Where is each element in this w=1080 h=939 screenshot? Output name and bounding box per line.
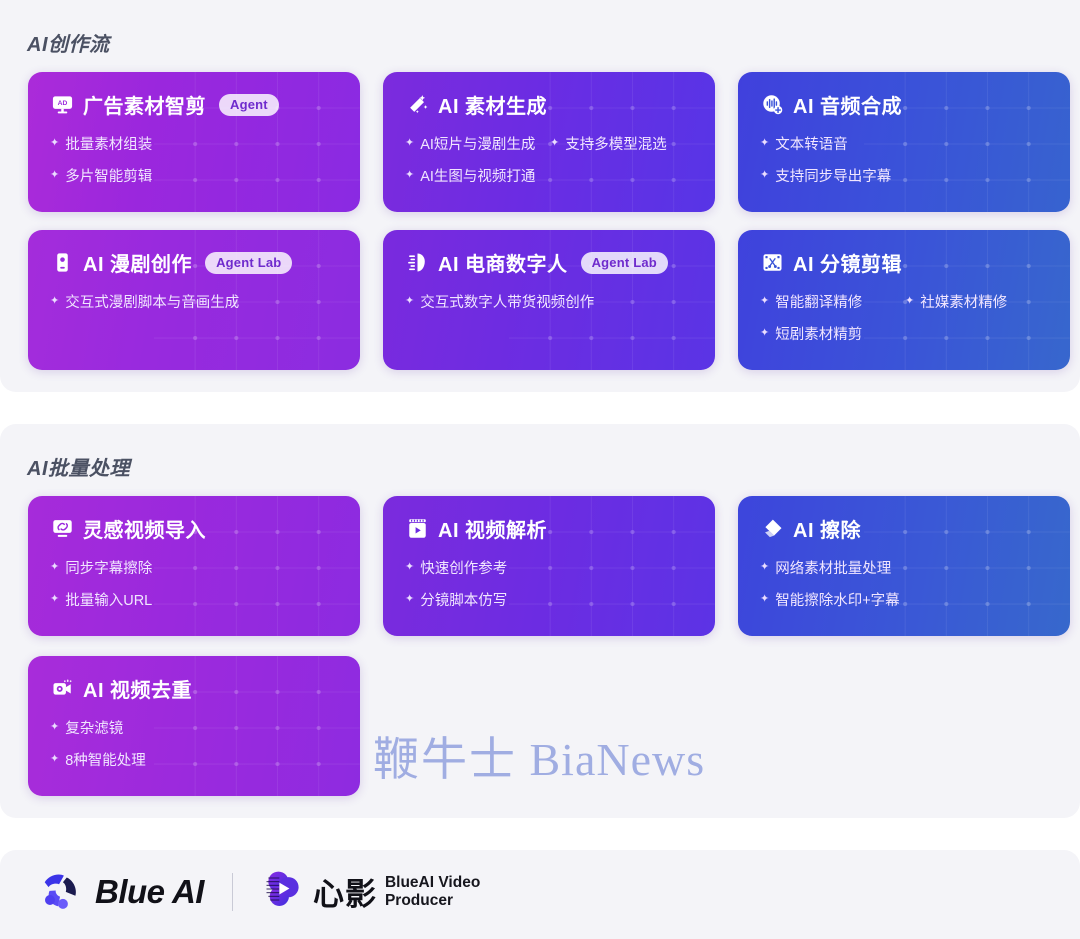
feature-label: 短剧素材精剪 — [775, 323, 862, 344]
feature-list: ✦ 智能翻译精修 ✦ 社媒素材精修 ✦ 短剧素材精剪 — [760, 291, 1050, 344]
card-ai-ecommerce-digital-human[interactable]: AI 电商数字人 Agent Lab ✦ 交互式数字人带货视频创作 — [383, 230, 715, 370]
blue-ai-wordmark: Blue AI — [95, 873, 204, 911]
ad-monitor-icon: AD — [50, 93, 74, 117]
brand-xinying: 心影 BlueAI Video Producer — [261, 867, 480, 916]
status-badge: Agent — [219, 94, 279, 116]
audio-wave-icon — [760, 93, 784, 117]
feature-label: 快速创作参考 — [420, 557, 507, 578]
card-ai-audio-synthesis[interactable]: AI 音频合成 ✦ 文本转语音 ✦ 支持同步导出字幕 — [738, 72, 1070, 212]
feature-label: 批量素材组装 — [65, 133, 152, 154]
feature-list: ✦ 交互式数字人带货视频创作 — [405, 291, 695, 312]
section-title-ai-creation-flow: AI创作流 — [27, 28, 110, 57]
feature-item: ✦ 8种智能处理 — [50, 749, 340, 770]
watermark-cn: 鞭牛士 — [373, 734, 517, 785]
card-title: AI 分镜剪辑 — [793, 248, 902, 277]
digital-human-icon — [405, 251, 429, 275]
feature-item: ✦ 支持同步导出字幕 — [760, 165, 1050, 186]
card-ai-material-generation[interactable]: AI 素材生成 ✦ AI短片与漫剧生成 ✦ 支持多模型混选 ✦ AI生图与视频打… — [383, 72, 715, 212]
section-title-ai-batch-processing: AI批量处理 — [27, 452, 130, 481]
feature-item: ✦ 分镜脚本仿写 — [405, 589, 695, 610]
card-header: AI 擦除 — [760, 514, 1050, 543]
feature-item: ✦ 多片智能剪辑 — [50, 165, 340, 186]
card-header: AI 分镜剪辑 — [760, 248, 1050, 277]
link-import-icon — [50, 517, 74, 541]
card-header: AD 广告素材智剪 Agent — [50, 90, 340, 119]
card-ai-storyboard-editing[interactable]: AI 分镜剪辑 ✦ 智能翻译精修 ✦ 社媒素材精修 ✦ 短剧素材精剪 — [738, 230, 1070, 370]
sparkle-bullet-icon: ✦ — [50, 170, 59, 181]
sparkle-bullet-icon: ✦ — [760, 562, 769, 573]
feature-label: 智能擦除水印+字幕 — [775, 589, 899, 610]
card-title: AI 电商数字人 — [438, 248, 568, 277]
card-title: AI 音频合成 — [793, 90, 902, 119]
card-ai-comic-drama-creation[interactable]: AI 漫剧创作 Agent Lab ✦ 交互式漫剧脚本与音画生成 — [28, 230, 360, 370]
feature-item: ✦ AI短片与漫剧生成 — [405, 133, 550, 154]
feature-label: 同步字幕擦除 — [65, 557, 152, 578]
feature-item: ✦ 短剧素材精剪 — [760, 323, 1050, 344]
feature-label: AI短片与漫剧生成 — [420, 133, 535, 154]
feature-item: ✦ 网络素材批量处理 — [760, 557, 1050, 578]
card-ad-material-smart-edit[interactable]: AD 广告素材智剪 Agent ✦ 批量素材组装 ✦ 多片智能剪辑 — [28, 72, 360, 212]
feature-list: ✦ AI短片与漫剧生成 ✦ 支持多模型混选 ✦ AI生图与视频打通 — [405, 133, 695, 186]
sparkle-bullet-icon: ✦ — [50, 722, 59, 733]
feature-label: 智能翻译精修 — [775, 291, 862, 312]
card-header: AI 视频解析 — [405, 514, 695, 543]
watermark-bianews: 鞭牛士 BiaNews — [373, 723, 705, 789]
card-header: AI 漫剧创作 Agent Lab — [50, 248, 340, 277]
card-ai-erase[interactable]: AI 擦除 ✦ 网络素材批量处理 ✦ 智能擦除水印+字幕 — [738, 496, 1070, 636]
card-title: AI 擦除 — [793, 514, 861, 543]
feature-item: ✦ 交互式漫剧脚本与音画生成 — [50, 291, 340, 312]
card-title: AI 漫剧创作 — [83, 248, 192, 277]
sparkle-bullet-icon: ✦ — [760, 170, 769, 181]
xinying-logo-icon — [261, 867, 305, 916]
feature-list: ✦ 快速创作参考 ✦ 分镜脚本仿写 — [405, 557, 695, 610]
feature-item: ✦ 复杂滤镜 — [50, 717, 340, 738]
sparkle-bullet-icon: ✦ — [905, 296, 914, 307]
sparkle-bullet-icon: ✦ — [760, 138, 769, 149]
sparkle-bullet-icon: ✦ — [405, 594, 414, 605]
feature-label: 交互式数字人带货视频创作 — [420, 291, 594, 312]
sparkle-bullet-icon: ✦ — [760, 328, 769, 339]
feature-item: ✦ 支持多模型混选 — [550, 133, 695, 154]
feature-item: ✦ AI生图与视频打通 — [405, 165, 695, 186]
footer-brand-row: Blue AI — [38, 866, 480, 917]
feature-label: 社媒素材精修 — [920, 291, 1007, 312]
card-header: AI 音频合成 — [760, 90, 1050, 119]
svg-text:AD: AD — [57, 100, 67, 107]
card-inspiration-video-import[interactable]: 灵感视频导入 ✦ 同步字幕擦除 ✦ 批量输入URL — [28, 496, 360, 636]
card-header: AI 视频去重 — [50, 674, 340, 703]
feature-label: 批量输入URL — [65, 589, 152, 610]
xinying-en-name: BlueAI Video Producer — [385, 874, 480, 910]
sparkle-bullet-icon: ✦ — [760, 594, 769, 605]
status-badge: Agent Lab — [581, 252, 668, 274]
feature-list: ✦ 同步字幕擦除 ✦ 批量输入URL — [50, 557, 340, 610]
feature-label: 交互式漫剧脚本与音画生成 — [65, 291, 239, 312]
promo-feature-page: AI创作流 AD — [0, 0, 1080, 939]
card-title: AI 视频去重 — [83, 674, 192, 703]
card-header: AI 素材生成 — [405, 90, 695, 119]
feature-list: ✦ 文本转语音 ✦ 支持同步导出字幕 — [760, 133, 1050, 186]
sparkle-bullet-icon: ✦ — [760, 296, 769, 307]
brand-divider — [232, 873, 233, 911]
magic-wand-icon — [405, 93, 429, 117]
brand-blue-ai: Blue AI — [38, 866, 204, 917]
feature-item: ✦ 智能擦除水印+字幕 — [760, 589, 1050, 610]
feature-list: ✦ 网络素材批量处理 ✦ 智能擦除水印+字幕 — [760, 557, 1050, 610]
feature-item: ✦ 同步字幕擦除 — [50, 557, 340, 578]
blue-ai-logo-icon — [38, 866, 84, 917]
feature-label: 文本转语音 — [775, 133, 848, 154]
sparkle-bullet-icon: ✦ — [50, 562, 59, 573]
feature-label: 复杂滤镜 — [65, 717, 123, 738]
feature-label: 网络素材批量处理 — [775, 557, 891, 578]
sparkle-bullet-icon: ✦ — [405, 296, 414, 307]
card-title: 灵感视频导入 — [83, 514, 206, 543]
xinying-cn-name: 心影 — [313, 869, 377, 914]
card-header: 灵感视频导入 — [50, 514, 340, 543]
sparkle-bullet-icon: ✦ — [550, 138, 559, 149]
feature-item: ✦ 快速创作参考 — [405, 557, 695, 578]
sparkle-bullet-icon: ✦ — [50, 754, 59, 765]
feature-label: 多片智能剪辑 — [65, 165, 152, 186]
feature-item: ✦ 批量输入URL — [50, 589, 340, 610]
feature-item: ✦ 社媒素材精修 — [905, 291, 1050, 312]
card-ai-video-analysis[interactable]: AI 视频解析 ✦ 快速创作参考 ✦ 分镜脚本仿写 — [383, 496, 715, 636]
sparkle-bullet-icon: ✦ — [405, 138, 414, 149]
feature-label: 支持同步导出字幕 — [775, 165, 891, 186]
feature-list: ✦ 复杂滤镜 ✦ 8种智能处理 — [50, 717, 340, 770]
card-header: AI 电商数字人 Agent Lab — [405, 248, 695, 277]
sparkle-bullet-icon: ✦ — [50, 594, 59, 605]
feature-list: ✦ 交互式漫剧脚本与音画生成 — [50, 291, 340, 312]
comic-panel-icon — [50, 251, 74, 275]
feature-label: 支持多模型混选 — [565, 133, 667, 154]
camera-dedupe-icon — [50, 677, 74, 701]
sparkle-bullet-icon: ✦ — [50, 138, 59, 149]
card-ai-video-deduplication[interactable]: AI 视频去重 ✦ 复杂滤镜 ✦ 8种智能处理 — [28, 656, 360, 796]
card-title: AI 视频解析 — [438, 514, 547, 543]
sparkle-bullet-icon: ✦ — [405, 562, 414, 573]
feature-label: 8种智能处理 — [65, 749, 146, 770]
status-badge: Agent Lab — [205, 252, 292, 274]
feature-label: AI生图与视频打通 — [420, 165, 535, 186]
feature-label: 分镜脚本仿写 — [420, 589, 507, 610]
sparkle-bullet-icon: ✦ — [50, 296, 59, 307]
video-play-icon — [405, 517, 429, 541]
feature-list: ✦ 批量素材组装 ✦ 多片智能剪辑 — [50, 133, 340, 186]
feature-item: ✦ 交互式数字人带货视频创作 — [405, 291, 695, 312]
card-title: AI 素材生成 — [438, 90, 547, 119]
eraser-icon — [760, 517, 784, 541]
feature-item: ✦ 批量素材组装 — [50, 133, 340, 154]
card-title: 广告素材智剪 — [83, 90, 206, 119]
sparkle-bullet-icon: ✦ — [405, 170, 414, 181]
watermark-en: BiaNews — [530, 734, 706, 785]
film-scissors-icon — [760, 251, 784, 275]
feature-item: ✦ 智能翻译精修 — [760, 291, 905, 312]
feature-item: ✦ 文本转语音 — [760, 133, 1050, 154]
